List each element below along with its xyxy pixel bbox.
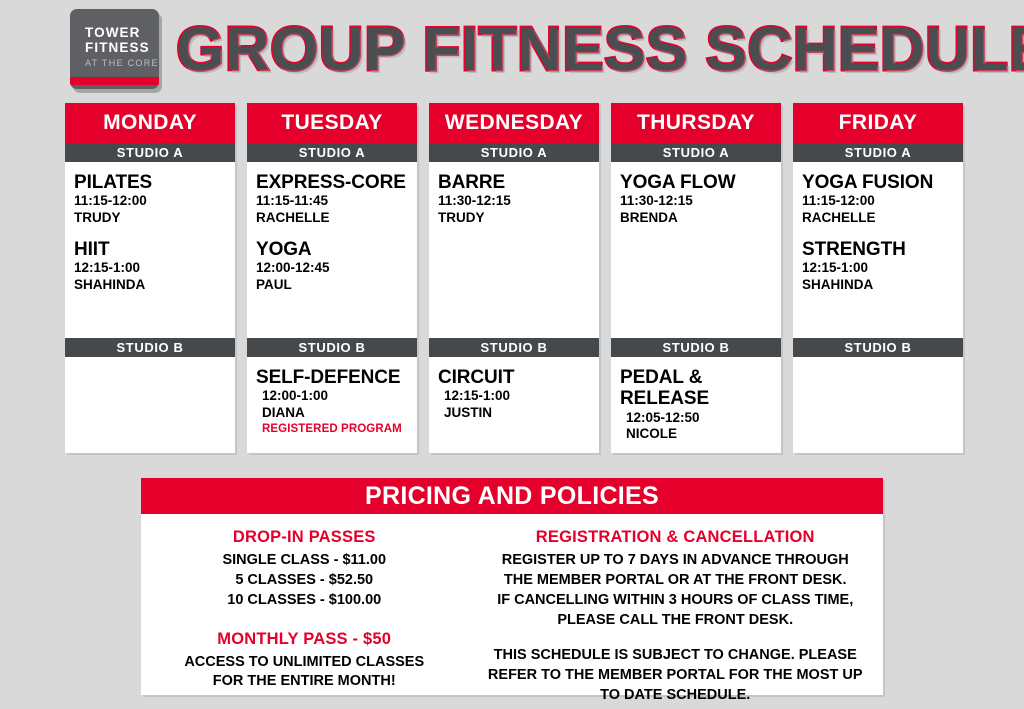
class-name: HIIT xyxy=(74,239,235,260)
class-instructor: NICOLE xyxy=(620,426,781,443)
class-instructor: RACHELLE xyxy=(256,210,417,227)
studio-a-classes: BARRE11:30-12:15TRUDY xyxy=(429,162,599,338)
class-entry[interactable]: BARRE11:30-12:15TRUDY xyxy=(438,172,599,227)
studio-a-classes: YOGA FLOW11:30-12:15BRENDA xyxy=(611,162,781,338)
class-time: 12:00-1:00 xyxy=(256,388,417,405)
pricing-and-policies-panel: PRICING AND POLICIES DROP-IN PASSES SING… xyxy=(141,478,883,695)
policy-line: IF CANCELLING WITHIN 3 HOURS OF CLASS TI… xyxy=(475,591,875,611)
policy-line: REGISTER UP TO 7 DAYS IN ADVANCE THROUGH xyxy=(475,551,875,571)
studio-b-header: STUDIO B xyxy=(65,338,235,357)
class-instructor: DIANA xyxy=(256,405,417,422)
studio-a-header: STUDIO A xyxy=(611,143,781,162)
class-instructor: BRENDA xyxy=(620,210,781,227)
class-name: PEDAL & RELEASE xyxy=(620,367,781,410)
studio-a-header: STUDIO A xyxy=(793,143,963,162)
monthly-pass-line: ACCESS TO UNLIMITED CLASSES xyxy=(149,653,459,673)
class-time: 12:15-1:00 xyxy=(74,260,235,277)
class-name: BARRE xyxy=(438,172,599,193)
class-name: CIRCUIT xyxy=(438,367,599,388)
class-instructor: SHAHINDA xyxy=(74,277,235,294)
class-time: 12:15-1:00 xyxy=(438,388,599,405)
day-column-tuesday: TUESDAYSTUDIO AEXPRESS-CORE11:15-11:45RA… xyxy=(247,103,417,453)
class-time: 11:30-12:15 xyxy=(438,193,599,210)
studio-a-header: STUDIO A xyxy=(429,143,599,162)
class-name: YOGA FUSION xyxy=(802,172,963,193)
class-entry[interactable]: CIRCUIT12:15-1:00JUSTIN xyxy=(438,367,599,422)
class-name: YOGA FLOW xyxy=(620,172,781,193)
day-column-thursday: THURSDAYSTUDIO AYOGA FLOW11:30-12:15BREN… xyxy=(611,103,781,453)
studio-a-classes: YOGA FUSION11:15-12:00RACHELLESTRENGTH12… xyxy=(793,162,963,338)
studio-a-classes: EXPRESS-CORE11:15-11:45RACHELLEYOGA12:00… xyxy=(247,162,417,338)
logo-text: TOWER FITNESS AT THE CORE xyxy=(85,25,159,68)
class-name: SELF-DEFENCE xyxy=(256,367,417,388)
monthly-pass-lines: ACCESS TO UNLIMITED CLASSESFOR THE ENTIR… xyxy=(149,653,459,693)
class-name: YOGA xyxy=(256,239,417,260)
monthly-pass-heading: MONTHLY PASS - $50 xyxy=(149,630,459,649)
page-title: GROUP FITNESS SCHEDULE xyxy=(176,13,966,87)
class-entry[interactable]: PILATES11:15-12:00TRUDY xyxy=(74,172,235,227)
studio-a-header: STUDIO A xyxy=(247,143,417,162)
class-instructor: PAUL xyxy=(256,277,417,294)
day-column-wednesday: WEDNESDAYSTUDIO ABARRE11:30-12:15TRUDYST… xyxy=(429,103,599,453)
class-time: 12:00-12:45 xyxy=(256,260,417,277)
drop-in-price-line: SINGLE CLASS - $11.00 xyxy=(149,551,459,571)
class-entry[interactable]: YOGA12:00-12:45PAUL xyxy=(256,239,417,294)
day-column-monday: MONDAYSTUDIO APILATES11:15-12:00TRUDYHII… xyxy=(65,103,235,453)
schedule-change-policy-paragraph: THIS SCHEDULE IS SUBJECT TO CHANGE. PLEA… xyxy=(475,646,875,706)
studio-a-classes: PILATES11:15-12:00TRUDYHIIT12:15-1:00SHA… xyxy=(65,162,235,338)
registration-cancellation-heading: REGISTRATION & CANCELLATION xyxy=(475,528,875,547)
studio-b-classes xyxy=(793,357,963,453)
pricing-column-policies: REGISTRATION & CANCELLATION REGISTER UP … xyxy=(467,528,883,695)
page-header: TOWER FITNESS AT THE CORE GROUP FITNESS … xyxy=(0,0,1024,98)
monthly-pass-line: FOR THE ENTIRE MONTH! xyxy=(149,672,459,692)
class-instructor: TRUDY xyxy=(74,210,235,227)
policy-line: THIS SCHEDULE IS SUBJECT TO CHANGE. PLEA… xyxy=(475,646,875,666)
class-entry[interactable]: YOGA FLOW11:30-12:15BRENDA xyxy=(620,172,781,227)
class-instructor: TRUDY xyxy=(438,210,599,227)
class-note-badge: REGISTERED PROGRAM xyxy=(256,422,417,437)
class-entry[interactable]: YOGA FUSION11:15-12:00RACHELLE xyxy=(802,172,963,227)
studio-b-header: STUDIO B xyxy=(429,338,599,357)
drop-in-passes-heading: DROP-IN PASSES xyxy=(149,528,459,547)
class-name: PILATES xyxy=(74,172,235,193)
policy-line: REFER TO THE MEMBER PORTAL FOR THE MOST … xyxy=(475,666,875,686)
class-name: STRENGTH xyxy=(802,239,963,260)
class-entry[interactable]: SELF-DEFENCE12:00-1:00DIANAREGISTERED PR… xyxy=(256,367,417,437)
weekly-schedule-grid: MONDAYSTUDIO APILATES11:15-12:00TRUDYHII… xyxy=(65,103,963,453)
class-time: 11:15-12:00 xyxy=(74,193,235,210)
tower-fitness-logo: TOWER FITNESS AT THE CORE xyxy=(70,9,159,89)
spacer xyxy=(149,611,459,630)
studio-b-classes: CIRCUIT12:15-1:00JUSTIN xyxy=(429,357,599,453)
class-instructor: RACHELLE xyxy=(802,210,963,227)
studio-b-classes: SELF-DEFENCE12:00-1:00DIANAREGISTERED PR… xyxy=(247,357,417,453)
class-entry[interactable]: EXPRESS-CORE11:15-11:45RACHELLE xyxy=(256,172,417,227)
logo-tagline: AT THE CORE xyxy=(85,58,159,68)
studio-b-header: STUDIO B xyxy=(793,338,963,357)
studio-b-header: STUDIO B xyxy=(611,338,781,357)
spacer xyxy=(475,630,875,646)
studio-b-header: STUDIO B xyxy=(247,338,417,357)
drop-in-price-line: 5 CLASSES - $52.50 xyxy=(149,571,459,591)
class-name: EXPRESS-CORE xyxy=(256,172,417,193)
class-entry[interactable]: STRENGTH12:15-1:00SHAHINDA xyxy=(802,239,963,294)
policy-line: PLEASE CALL THE FRONT DESK. xyxy=(475,611,875,631)
day-column-friday: FRIDAYSTUDIO AYOGA FUSION11:15-12:00RACH… xyxy=(793,103,963,453)
day-header: THURSDAY xyxy=(611,103,781,143)
studio-a-header: STUDIO A xyxy=(65,143,235,162)
pricing-panel-body: DROP-IN PASSES SINGLE CLASS - $11.005 CL… xyxy=(141,514,883,695)
pricing-panel-title: PRICING AND POLICIES xyxy=(141,478,883,514)
registration-policy-paragraph: REGISTER UP TO 7 DAYS IN ADVANCE THROUGH… xyxy=(475,551,875,630)
day-header: MONDAY xyxy=(65,103,235,143)
class-instructor: JUSTIN xyxy=(438,405,599,422)
pricing-column-passes: DROP-IN PASSES SINGLE CLASS - $11.005 CL… xyxy=(141,528,467,695)
policy-line: THE MEMBER PORTAL OR AT THE FRONT DESK. xyxy=(475,571,875,591)
day-header: TUESDAY xyxy=(247,103,417,143)
logo-line-fitness: FITNESS xyxy=(85,40,159,55)
class-time: 11:15-11:45 xyxy=(256,193,417,210)
class-entry[interactable]: PEDAL & RELEASE12:05-12:50NICOLE xyxy=(620,367,781,443)
logo-line-tower: TOWER xyxy=(85,25,159,40)
class-instructor: SHAHINDA xyxy=(802,277,963,294)
class-time: 11:30-12:15 xyxy=(620,193,781,210)
policy-line: TO DATE SCHEDULE. xyxy=(475,686,875,706)
day-header: FRIDAY xyxy=(793,103,963,143)
studio-b-classes xyxy=(65,357,235,453)
drop-in-passes-lines: SINGLE CLASS - $11.005 CLASSES - $52.501… xyxy=(149,551,459,611)
logo-accent-bar xyxy=(70,77,159,85)
studio-b-classes: PEDAL & RELEASE12:05-12:50NICOLE xyxy=(611,357,781,453)
class-time: 12:15-1:00 xyxy=(802,260,963,277)
drop-in-price-line: 10 CLASSES - $100.00 xyxy=(149,591,459,611)
day-header: WEDNESDAY xyxy=(429,103,599,143)
class-time: 12:05-12:50 xyxy=(620,410,781,427)
class-entry[interactable]: HIIT12:15-1:00SHAHINDA xyxy=(74,239,235,294)
class-time: 11:15-12:00 xyxy=(802,193,963,210)
